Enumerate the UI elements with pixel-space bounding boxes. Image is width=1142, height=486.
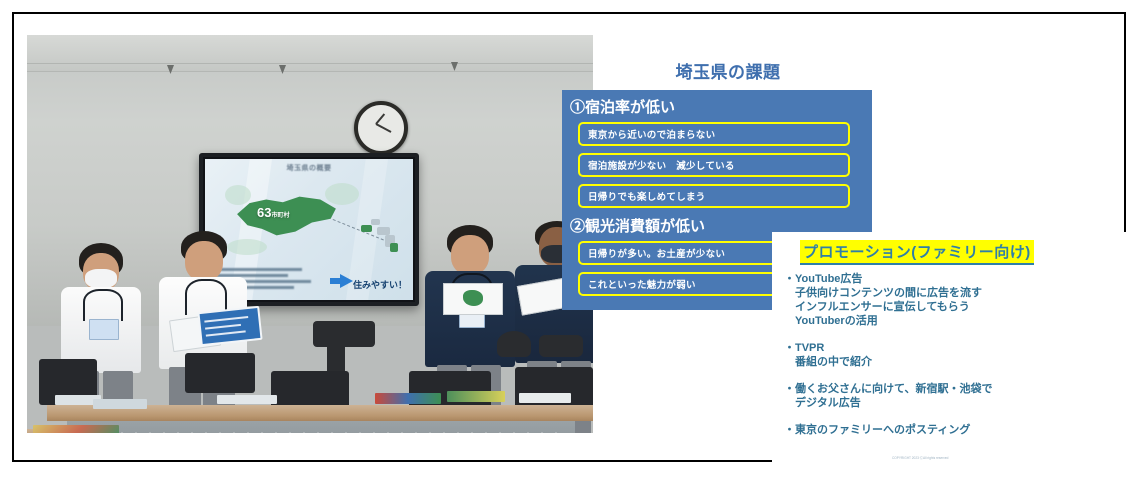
issue-item: 東京から近いので泊まらない [578,122,850,146]
promotion-item: ・YouTube広告 子供向けコンテンツの間に広告を流すインフルエンサーに宣伝し… [784,270,1124,328]
promotion-item: ・働くお父さんに向けて、新宿駅・池袋で デジタル広告 [784,380,1124,410]
japan-map-shape [359,217,401,257]
issue-item-label: これといった魅力が弱い [588,277,696,291]
brochure [519,393,571,403]
photo-ceiling [27,35,593,72]
handout-paper [443,283,503,315]
cable-bundle [539,335,583,357]
wall-clock [354,101,408,155]
tv-map-count: 63市町村 [257,205,289,220]
decor-blob [225,185,251,205]
promotion-item-sub: デジタル広告 [795,396,1124,410]
issue-item: 宿泊施設が少ない 減少している [578,153,850,177]
issue-item-label: 東京から近いので泊まらない [588,127,715,141]
promotion-item-sub: 子供向けコンテンツの間に広告を流すインフルエンサーに宣伝してもらうYouTube… [795,286,1124,328]
arrow-icon [340,274,353,288]
promotion-item-lead: ・TVPR [784,339,1124,355]
promotion-item-lead: ・東京のファミリーへのポスティング [784,421,1124,437]
brochure-stack [33,425,119,433]
promotion-title: プロモーション(ファミリー向け) [800,240,1034,265]
issue-item-label: 宿泊施設が少ない 減少している [588,158,735,172]
brochure [217,395,277,404]
promotion-copyright: COPYRIGHT 2023 ⒸAll rights reserved [892,455,948,460]
ceiling-line [27,63,593,64]
slide-frame: 埼玉県の概要 63市町村 住みやすい！ [12,12,1126,462]
promotion-item-lead: ・YouTube広告 [784,270,1124,286]
decor-blob [325,183,359,205]
projector-device [497,331,531,357]
issue-item-label: 日帰りでも楽しめてしまう [588,189,706,203]
brochure [447,391,505,402]
promotion-item: ・TVPR 番組の中で紹介 [784,339,1124,369]
promotion-item-sub: 番組の中で紹介 [795,355,1124,369]
brochure [375,393,441,404]
promotion-list: ・YouTube広告 子供向けコンテンツの間に広告を流すインフルエンサーに宣伝し… [784,270,1124,448]
held-sign [197,306,262,346]
promotion-item: ・東京のファミリーへのポスティング [784,421,1124,437]
issue-heading-1: ①宿泊率が低い [570,96,872,117]
presentation-photo: 埼玉県の概要 63市町村 住みやすい！ [27,35,593,433]
chair [185,353,255,393]
issue-item-label: 日帰りが多い。お土産が少ない [588,246,725,260]
brochure [93,399,147,409]
tv-stand [327,335,345,375]
promotion-panel: プロモーション(ファミリー向け) ・YouTube広告 子供向けコンテンツの間に… [772,232,1130,464]
arrow-icon [330,278,340,284]
promotion-item-lead: ・働くお父さんに向けて、新宿駅・池袋で [784,380,1124,396]
table-front-panel [67,421,575,433]
tv-slide-title: 埼玉県の概要 [205,163,413,173]
tv-callout: 住みやすい！ [353,278,407,291]
page-title: 埼玉県の課題 [562,58,894,83]
issue-item: 日帰りでも楽しめてしまう [578,184,850,208]
